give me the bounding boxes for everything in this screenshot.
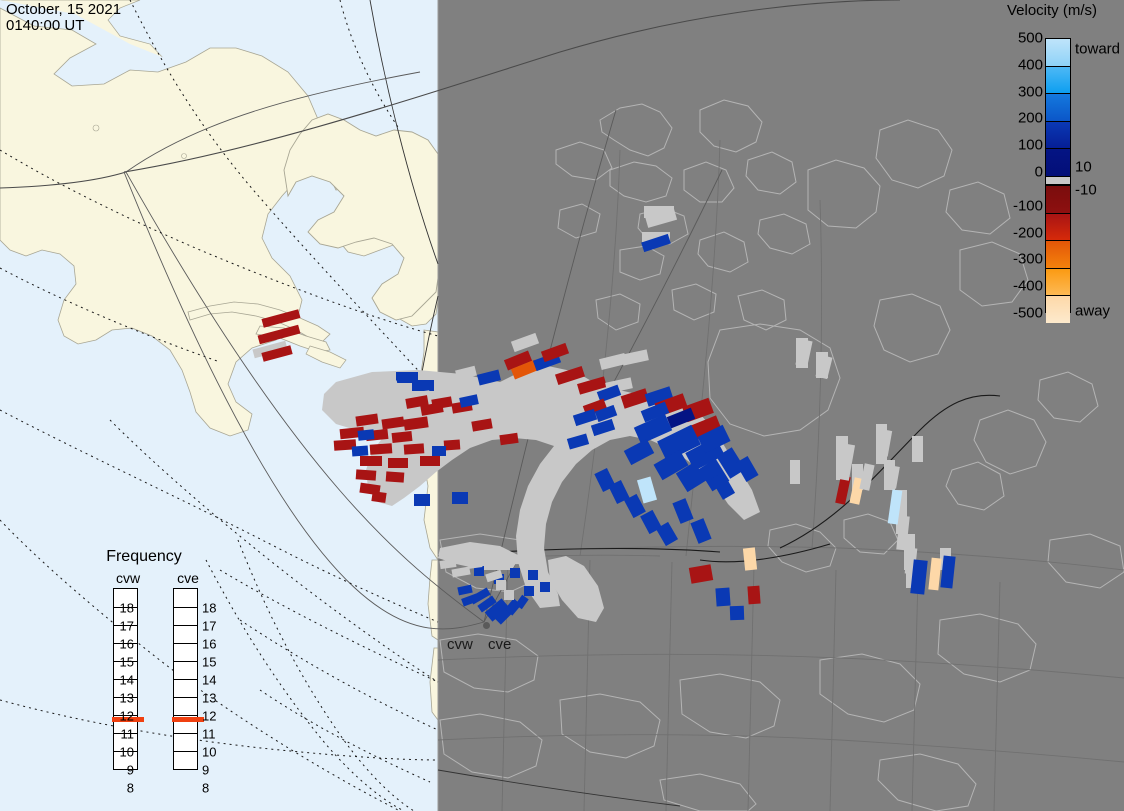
frequency-gridline: [174, 643, 197, 644]
frequency-tick-cve-9: 9: [202, 763, 224, 778]
colorbar-band--150: [1046, 213, 1070, 241]
velocity-colorbar: Velocity (m/s) 5004003002001000-100-200-…: [985, 0, 1124, 340]
frequency-tick-cvw-12: 12: [112, 709, 134, 724]
frequency-tick-cve-11: 11: [202, 727, 224, 742]
frequency-tick-cve-10: 10: [202, 745, 224, 760]
frequency-tick-cvw-13: 13: [112, 691, 134, 706]
frequency-tick-cve-12: 12: [202, 709, 224, 724]
frequency-marker-cve: [172, 717, 204, 722]
colorbar-band--350: [1046, 268, 1070, 296]
colorbar-band-450: [1046, 39, 1070, 66]
frequency-title: Frequency: [85, 548, 203, 566]
frequency-tick-cve-8: 8: [202, 781, 224, 796]
frequency-tick-cvw-11: 11: [112, 727, 134, 742]
frequency-tick-cvw-9: 9: [112, 763, 134, 778]
colorbar-band--450: [1046, 295, 1070, 323]
frequency-tick-cve-15: 15: [202, 655, 224, 670]
frequency-tick-cvw-17: 17: [112, 619, 134, 634]
frequency-legend: Frequency cvw18171615141312111098cve1817…: [85, 548, 240, 783]
frequency-column-name-cve: cve: [173, 570, 203, 586]
frequency-tick-cve-18: 18: [202, 601, 224, 616]
colorbar-tick-200: 200: [997, 110, 1043, 127]
colorbar-side-label-0: toward: [1075, 40, 1120, 57]
frequency-bar-cve: [173, 588, 198, 770]
colorbar-side-label-3: away: [1075, 302, 1110, 319]
colorbar-tick-500: 500: [997, 30, 1043, 47]
timestamp-date: October, 15 2021: [6, 1, 121, 18]
frequency-gridline: [174, 697, 197, 698]
frequency-gridline: [174, 661, 197, 662]
timestamp-label: October, 15 2021 0140:00 UT: [6, 2, 121, 34]
colorbar-tick-300: 300: [997, 83, 1043, 100]
colorbar-tick--200: -200: [997, 224, 1043, 241]
colorbar-tick-400: 400: [997, 56, 1043, 73]
frequency-column-name-cvw: cvw: [113, 570, 143, 586]
radar-site-label-cvw: cvw: [447, 636, 473, 653]
frequency-tick-cvw-10: 10: [112, 745, 134, 760]
colorbar-tick-0: 0: [997, 164, 1043, 181]
colorbar-tick--100: -100: [997, 197, 1043, 214]
frequency-gridline: [174, 751, 197, 752]
colorbar-tick-100: 100: [997, 137, 1043, 154]
superdarn-map-view: cvwcve October, 15 2021 0140:00 UT Veloc…: [0, 0, 1124, 811]
frequency-column-cvw: cvw18171615141312111098: [113, 570, 143, 770]
timestamp-time: 0140:00 UT: [6, 17, 84, 34]
frequency-gridline: [174, 625, 197, 626]
frequency-tick-cvw-16: 16: [112, 637, 134, 652]
colorbar-band-350: [1046, 66, 1070, 94]
frequency-tick-cvw-14: 14: [112, 673, 134, 688]
frequency-gridline: [174, 607, 197, 608]
radar-site-dot: [483, 622, 490, 629]
frequency-tick-cvw-15: 15: [112, 655, 134, 670]
colorbar-band-250: [1046, 93, 1070, 121]
colorbar-side-label-2: -10: [1075, 181, 1097, 198]
frequency-tick-cve-13: 13: [202, 691, 224, 706]
radar-site-label-cve: cve: [488, 636, 511, 653]
frequency-gridline: [174, 679, 197, 680]
colorbar-tick--400: -400: [997, 278, 1043, 295]
colorbar-band--250: [1046, 240, 1070, 268]
colorbar-gradient: [1045, 38, 1071, 313]
colorbar-tick--500: -500: [997, 305, 1043, 322]
colorbar-title: Velocity (m/s): [985, 2, 1119, 19]
colorbar-band--50: [1046, 185, 1070, 213]
frequency-tick-cve-16: 16: [202, 637, 224, 652]
frequency-tick-cve-14: 14: [202, 673, 224, 688]
frequency-tick-cvw-18: 18: [112, 601, 134, 616]
colorbar-band-150: [1046, 121, 1070, 149]
frequency-tick-cve-17: 17: [202, 619, 224, 634]
colorbar-band-0: [1046, 176, 1070, 185]
colorbar-band-50: [1046, 148, 1070, 176]
frequency-gridline: [174, 733, 197, 734]
colorbar-tick--300: -300: [997, 251, 1043, 268]
frequency-tick-cvw-8: 8: [112, 781, 134, 796]
colorbar-side-label-1: 10: [1075, 158, 1092, 175]
frequency-column-cve: cve18171615141312111098: [173, 570, 203, 770]
